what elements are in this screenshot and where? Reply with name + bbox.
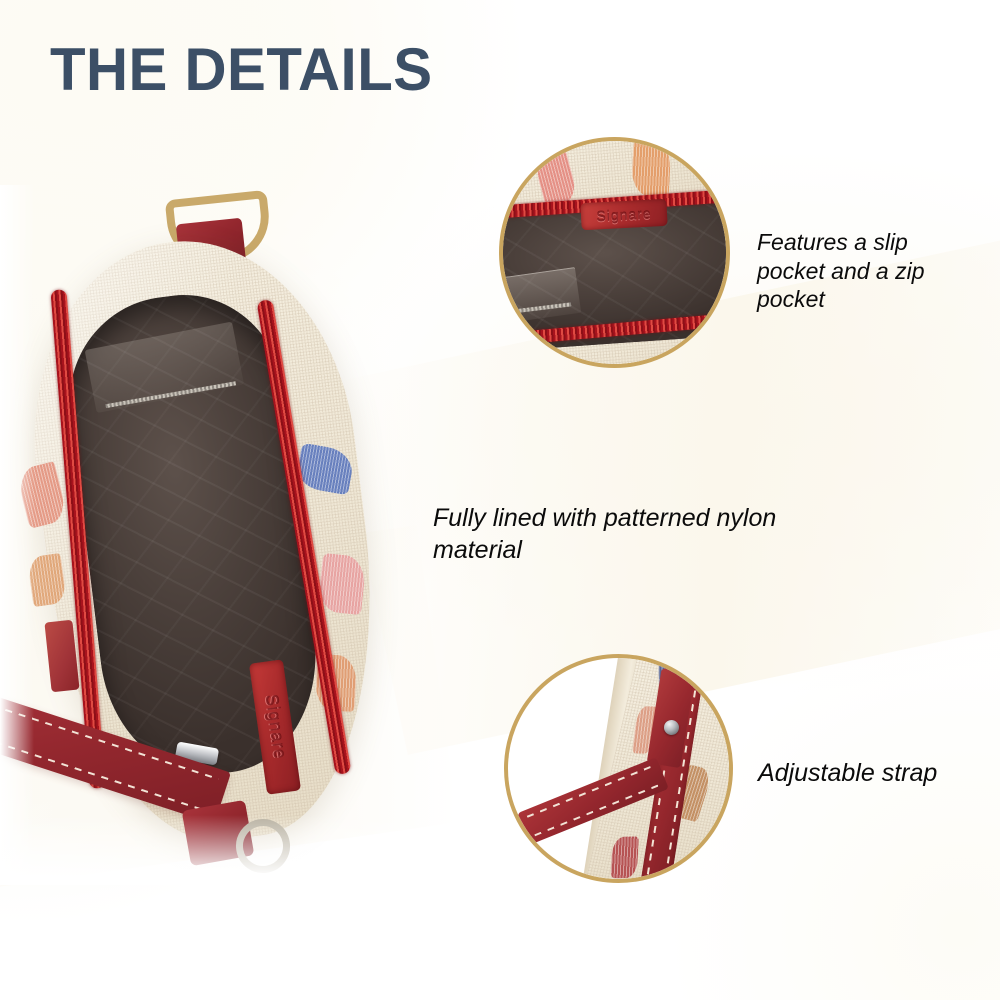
feature-caption-adjustable-strap: Adjustable strap [758,758,998,789]
callout1-cat-motif-orange [631,141,672,197]
callout-interior-pockets: Signare [499,137,730,368]
main-product-photo: Signare [0,185,420,885]
callout1-cat-motif-coral [533,149,579,208]
callout1-brand-label: Signare [580,199,667,230]
brand-label-text: Signare [261,693,290,761]
callout2-cat-motif-red [610,836,638,878]
callout1-zip-pocket-zipper [503,302,571,315]
details-infographic: THE DETAILS Signare [0,0,1000,1000]
interior-zip-pocket-zipper [105,381,236,408]
callout-adjustable-strap-image [508,658,729,879]
page-title: THE DETAILS [50,40,433,100]
callout1-brand-label-text: Signare [596,205,652,224]
callout-adjustable-strap [504,654,733,883]
callout-interior-pockets-image: Signare [503,141,726,364]
feature-caption-nylon-lining: Fully lined with patterned nylon materia… [433,502,843,566]
feature-caption-slip-zip-pocket: Features a slip pocket and a zip pocket [757,228,972,314]
interior-slip-pocket [85,322,244,413]
photo-fade-left [0,185,34,885]
callout1-slip-pocket [503,267,581,325]
